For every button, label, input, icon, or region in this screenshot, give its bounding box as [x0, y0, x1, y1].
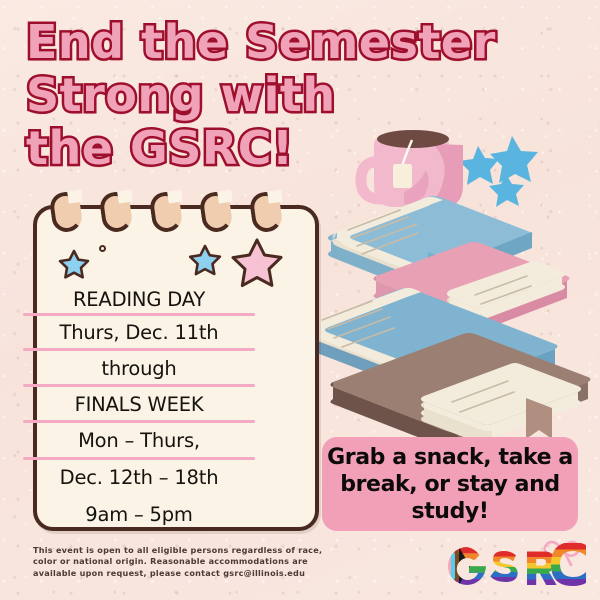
gsrc-logo	[443, 543, 588, 589]
notepad-rule	[23, 457, 255, 460]
notepad-spiral-rings	[33, 192, 311, 236]
dot-small-icon	[99, 245, 106, 252]
star-pink-large-icon	[226, 237, 286, 295]
title-line-1: End the Semester	[26, 16, 586, 69]
spiral-ring	[148, 190, 183, 234]
notepad-entry: READING DAY	[0, 288, 278, 311]
star-blue-medium	[459, 146, 499, 185]
notepad-rule	[23, 420, 255, 423]
notepad-entry: Mon – Thurs,	[0, 429, 278, 452]
star-blue-small	[489, 174, 524, 207]
callout-box: Grab a snack, take a break, or stay and …	[322, 437, 578, 531]
callout-text: Grab a snack, take a break, or stay and …	[322, 444, 578, 525]
disclaimer-text: This event is open to all eligible perso…	[33, 545, 333, 579]
notepad-entry: FINALS WEEK	[0, 393, 278, 416]
title-line-2: Strong with	[26, 69, 586, 122]
books-and-mug-illustration	[300, 130, 600, 440]
logo-letter-c	[551, 543, 586, 586]
notepad-rule	[23, 348, 255, 351]
star-blue-medium-icon	[187, 243, 223, 279]
spiral-ring	[248, 190, 283, 234]
tea-mug	[361, 130, 463, 207]
logo-letter-s	[490, 551, 517, 582]
notepad-entry: Thurs, Dec. 11th	[0, 321, 278, 344]
logo-letter-g	[443, 547, 489, 585]
spiral-ring	[48, 190, 83, 234]
star-blue-small-icon	[57, 248, 91, 282]
notepad-rule	[23, 384, 255, 387]
notepad-rule	[23, 313, 255, 316]
gsrc-logo-svg	[443, 543, 588, 589]
notepad-entry: 9am – 5pm	[0, 503, 278, 526]
spiral-ring	[98, 190, 133, 234]
poster-canvas: End the Semester Strong with the GSRC!	[0, 0, 600, 600]
notepad-entry: Dec. 12th – 18th	[0, 466, 278, 489]
spiral-ring	[198, 190, 233, 234]
illustration-svg	[300, 130, 600, 440]
notepad-entry: through	[0, 357, 278, 380]
